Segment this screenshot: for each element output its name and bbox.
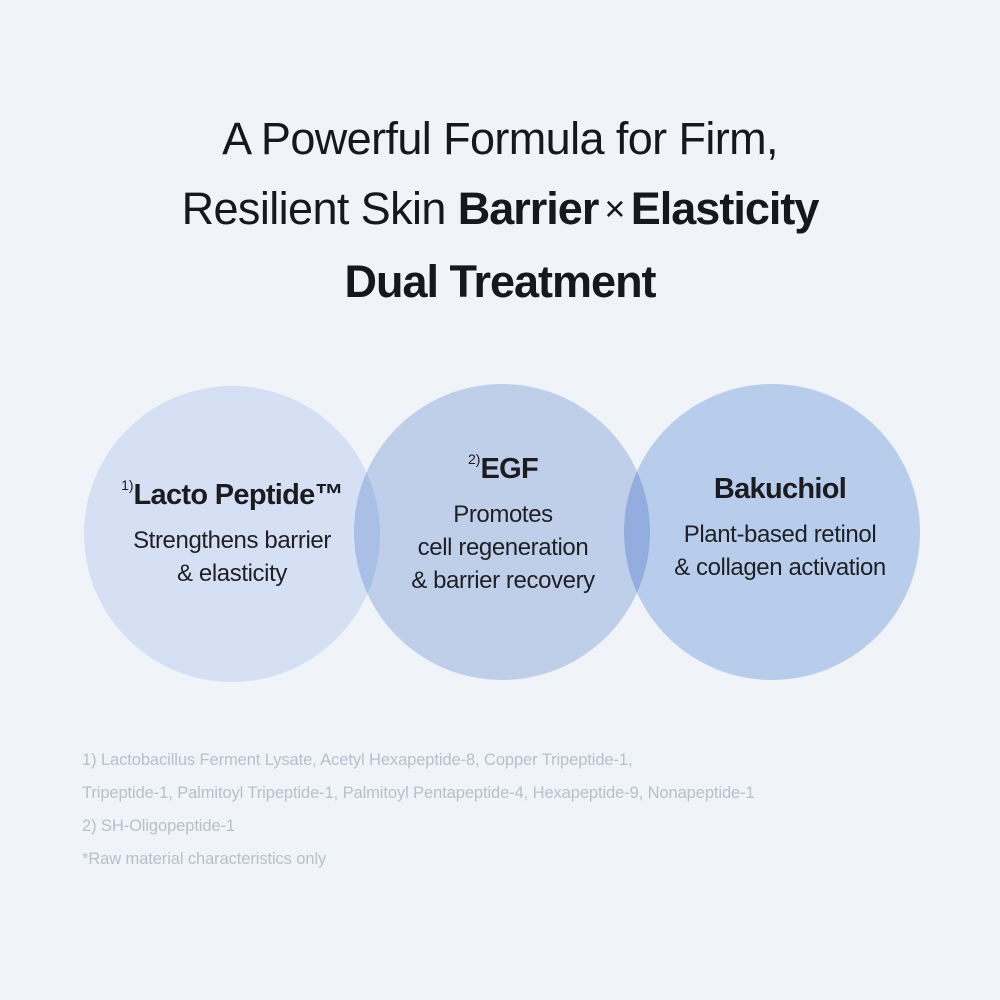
headline-line-2-light: Resilient Skin [182,183,458,234]
ingredient-name-lacto-peptide: Lacto Peptide™ [134,479,343,511]
headline-line-1-text: A Powerful Formula for Firm, [222,113,778,164]
ingredient-infographic-page: { "page": { "background_color": "#f0f3f8… [0,0,1000,1000]
ingredient-title-bakuchiol: Bakuchiol [615,472,945,506]
ingredient-desc-line: & collagen activation [615,551,945,584]
headline-line-1: A Powerful Formula for Firm, [0,104,1000,174]
footnote-marker-1: 1) [121,477,133,493]
multiply-symbol-icon: × [598,188,630,229]
headline-line-3: Dual Treatment [0,247,1000,317]
headline-keyword-elasticity: Elasticity [631,183,819,234]
ingredient-block-bakuchiol: Bakuchiol Plant-based retinol & collagen… [615,472,945,584]
headline-keyword-barrier: Barrier [458,183,599,234]
footnote-line-2: Tripeptide-1, Palmitoyl Tripeptide-1, Pa… [82,777,962,810]
footnotes-block: 1) Lactobacillus Ferment Lysate, Acetyl … [82,744,962,876]
headline-line-2: Resilient Skin Barrier×Elasticity [0,174,1000,247]
footnote-line-3: 2) SH-Oligopeptide-1 [82,810,962,843]
footnote-marker-2: 2) [468,451,480,467]
ingredient-desc-bakuchiol: Plant-based retinol & collagen activatio… [615,518,945,584]
ingredient-desc-line: Plant-based retinol [615,518,945,551]
footnote-line-1: 1) Lactobacillus Ferment Lysate, Acetyl … [82,744,962,777]
footnote-line-4: *Raw material characteristics only [82,843,962,876]
ingredient-name-egf: EGF [480,453,538,485]
ingredient-name-bakuchiol: Bakuchiol [714,473,846,505]
ingredient-venn-diagram: 1)Lacto Peptide™ Strengthens barrier & e… [0,380,1000,690]
page-title: A Powerful Formula for Firm, Resilient S… [0,104,1000,317]
headline-line-3-text: Dual Treatment [344,256,655,307]
